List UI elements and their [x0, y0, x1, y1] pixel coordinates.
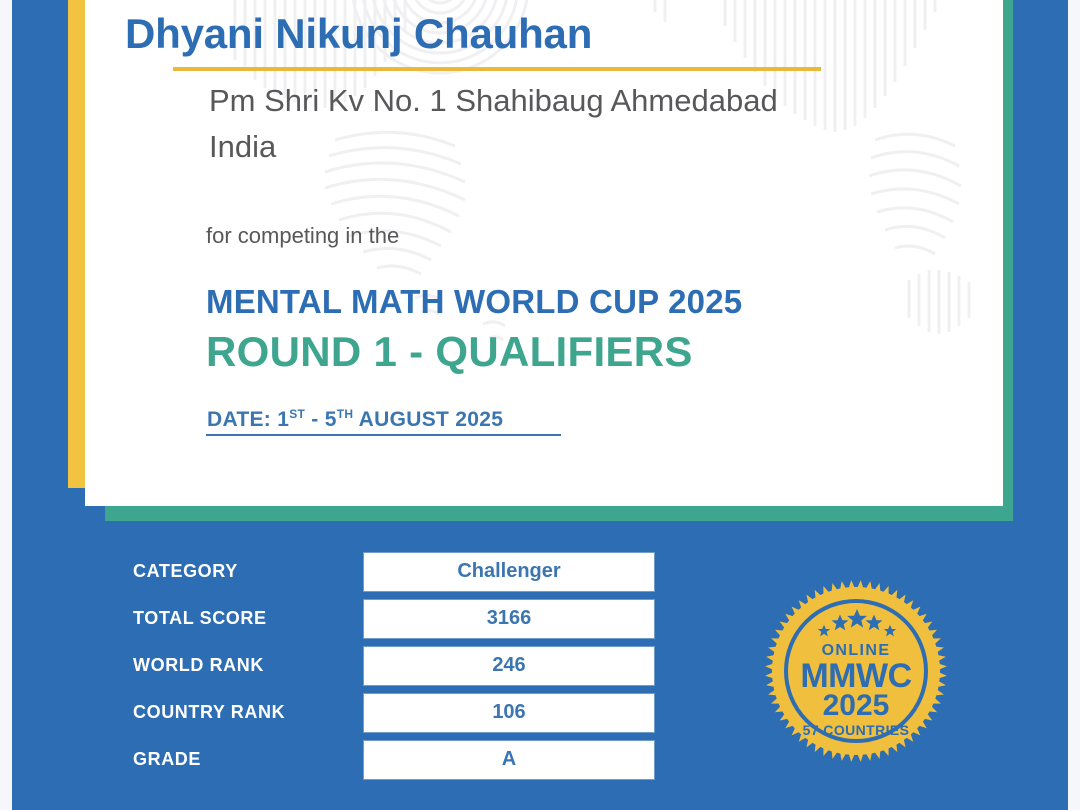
school-name: Pm Shri Kv No. 1 Shahibaug Ahmedabad — [209, 78, 989, 124]
stats-value-category: Challenger — [363, 552, 655, 592]
stats-value-grade: A — [363, 740, 655, 780]
table-row: COUNTRY RANK 106 — [133, 689, 655, 736]
recipient-name: Dhyani Nikunj Chauhan — [125, 10, 592, 58]
date-ordinal-first: ST — [289, 407, 305, 421]
stats-label-world-rank: WORLD RANK — [133, 655, 363, 676]
event-round: ROUND 1 - QUALIFIERS — [206, 328, 693, 376]
certificate-card: Dhyani Nikunj Chauhan Pm Shri Kv No. 1 S… — [85, 0, 1003, 506]
name-underline-rule — [173, 67, 821, 71]
stats-label-country-rank: COUNTRY RANK — [133, 702, 363, 723]
seal-year-text: 2025 — [823, 689, 890, 722]
stats-label-category: CATEGORY — [133, 561, 363, 582]
country-name: India — [209, 124, 989, 170]
certificate-page: Dhyani Nikunj Chauhan Pm Shri Kv No. 1 S… — [0, 0, 1080, 810]
stats-table: CATEGORY Challenger TOTAL SCORE 3166 WOR… — [133, 548, 655, 783]
for-competing-text: for competing in the — [206, 223, 399, 249]
stats-value-total-score: 3166 — [363, 599, 655, 639]
date-suffix: AUGUST 2025 — [353, 408, 503, 431]
table-row: WORLD RANK 246 — [133, 642, 655, 689]
table-row: TOTAL SCORE 3166 — [133, 595, 655, 642]
seal-bottom-text: 57 COUNTRIES — [803, 722, 910, 738]
stats-label-total-score: TOTAL SCORE — [133, 608, 363, 629]
date-underline-rule — [206, 434, 561, 436]
table-row: CATEGORY Challenger — [133, 548, 655, 595]
stats-value-world-rank: 246 — [363, 646, 655, 686]
date-ordinal-second: TH — [337, 407, 354, 421]
event-title: MENTAL MATH WORLD CUP 2025 — [206, 283, 742, 321]
mmwc-seal-badge: ONLINE MMWC 2025 57 COUNTRIES — [760, 575, 952, 767]
stats-label-grade: GRADE — [133, 749, 363, 770]
date-middle: - 5 — [305, 408, 337, 431]
recipient-school-address: Pm Shri Kv No. 1 Shahibaug Ahmedabad Ind… — [209, 78, 989, 170]
stats-value-country-rank: 106 — [363, 693, 655, 733]
event-date: DATE: 1ST - 5TH AUGUST 2025 — [207, 408, 503, 432]
table-row: GRADE A — [133, 736, 655, 783]
date-prefix: DATE: 1 — [207, 408, 289, 431]
